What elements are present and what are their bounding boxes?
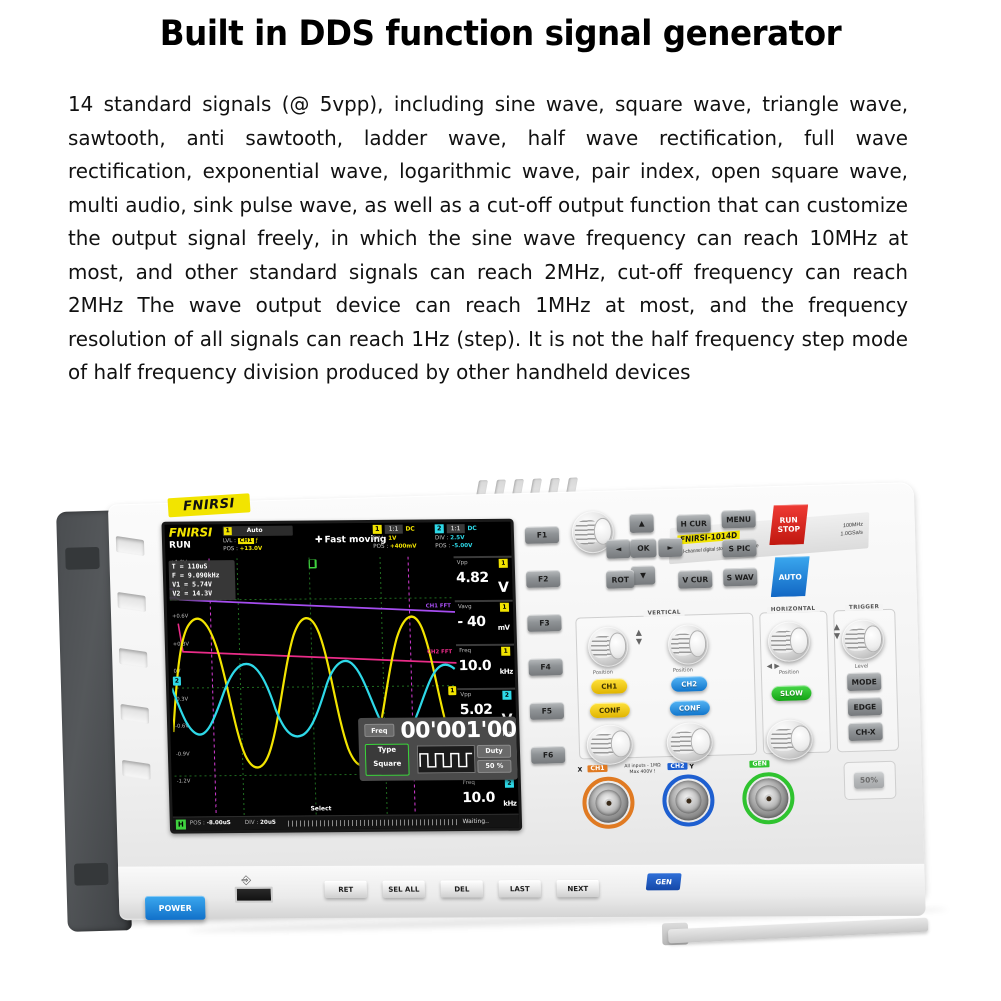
function-key-column: F1 F2 F3 F4 F5 F6 [525, 526, 570, 791]
function-key-f3[interactable]: F3 [527, 614, 561, 632]
trigger-mode-button[interactable]: MODE [847, 672, 881, 691]
v-cursor-button[interactable]: V CUR [678, 570, 712, 589]
save-picture-button[interactable]: S PIC [722, 539, 756, 558]
description-paragraph: 14 standard signals (@ 5vpp), including … [68, 88, 908, 390]
oscilloscope-device: FNIRSI FNIRSI-1014D Dual-channel digital… [56, 468, 935, 952]
stop-label: STOP [778, 524, 801, 534]
bottom-key-ret[interactable]: RET [325, 881, 367, 898]
arrow-down-icon[interactable]: ▼ [631, 565, 656, 585]
bnc-ch1-label: CH1 [587, 765, 607, 773]
ch1-button[interactable]: CH1 [591, 678, 627, 694]
input-warning-text: All inputs - 1MΩ Max 400V ! [619, 763, 665, 776]
trigger-level-label: Level [855, 663, 869, 669]
bottom-key-sel-all[interactable]: SEL ALL [383, 881, 425, 898]
vertical-group-title: VERTICAL [643, 610, 684, 617]
ch2-position-label: Position [673, 667, 693, 674]
ch1-conf-button[interactable]: CONF [590, 702, 630, 718]
bnc-ch2-connector[interactable] [662, 774, 715, 827]
bnc-ch2-label: CH2 [667, 763, 687, 771]
arrow-left-icon[interactable]: ◄ [606, 539, 631, 559]
trigger-channel-button[interactable]: CH-X [848, 722, 882, 741]
page-title: Built in DDS function signal generator [35, 14, 966, 54]
horizontal-group-title: HORIZONTAL [767, 606, 820, 613]
h-cursor-button[interactable]: H CUR [676, 514, 710, 533]
device-stand [668, 918, 928, 944]
trigger-arrow-icon: ▲▼ [834, 622, 841, 640]
menu-button[interactable]: MENU [721, 510, 755, 529]
ch1-position-label: Position [593, 670, 613, 677]
bottom-key-last[interactable]: LAST [499, 880, 541, 897]
rot-button[interactable]: ROT [606, 570, 634, 589]
function-key-f1[interactable]: F1 [525, 526, 559, 544]
trigger-edge-button[interactable]: EDGE [848, 697, 882, 716]
function-key-f5[interactable]: F5 [530, 702, 564, 720]
ok-button[interactable]: OK [630, 538, 657, 558]
bottom-key-next[interactable]: NEXT [557, 880, 599, 897]
auto-button[interactable]: AUTO [770, 556, 811, 597]
usb-icon: ⎆ [241, 873, 251, 888]
ch1-volts-div-knob[interactable] [586, 724, 633, 765]
usb-port[interactable] [235, 887, 273, 903]
run-stop-button[interactable]: RUN STOP [768, 504, 809, 545]
trigger-group-title: TRIGGER [845, 604, 883, 611]
navigation-pad: ▲ ◄ OK ► ▼ [601, 513, 683, 603]
ch2-button[interactable]: CH2 [671, 676, 707, 692]
horizontal-position-label: Position [779, 669, 799, 676]
slow-button[interactable]: SLOW [771, 685, 811, 701]
gen-output-button[interactable]: GEN [646, 873, 682, 890]
bnc-ch1-connector[interactable] [582, 776, 635, 829]
control-panel: F1 F2 F3 F4 F5 F6 ▲ ◄ OK ► ▼ ROT H CUR [56, 468, 935, 952]
horizontal-arrow-icon: ◀ ▶ [767, 662, 780, 670]
half-level-group [843, 761, 896, 800]
power-button[interactable]: POWER [145, 896, 206, 920]
ch2-conf-button[interactable]: CONF [670, 700, 710, 716]
bnc-ch2-axis-label: Y [689, 763, 694, 770]
timebase-knob[interactable] [766, 719, 813, 760]
arrow-up-icon[interactable]: ▲ [629, 513, 654, 533]
bottom-key-del[interactable]: DEL [441, 880, 483, 897]
arrow-right-icon[interactable]: ► [658, 538, 683, 558]
function-key-f2[interactable]: F2 [526, 570, 560, 588]
bnc-gen-connector[interactable] [742, 772, 795, 825]
ch2-volts-div-knob[interactable] [666, 722, 713, 763]
function-key-f4[interactable]: F4 [528, 658, 562, 676]
vertical-arrow-icon: ▲▼ [636, 628, 643, 646]
bnc-gen-label: GEN [749, 760, 770, 768]
save-wave-button[interactable]: S WAV [723, 568, 757, 587]
function-key-f6[interactable]: F6 [531, 746, 565, 764]
bnc-ch1-axis-label: X [577, 766, 582, 773]
product-photo: FNIRSI FNIRSI-1014D Dual-channel digital… [0, 470, 1001, 1001]
